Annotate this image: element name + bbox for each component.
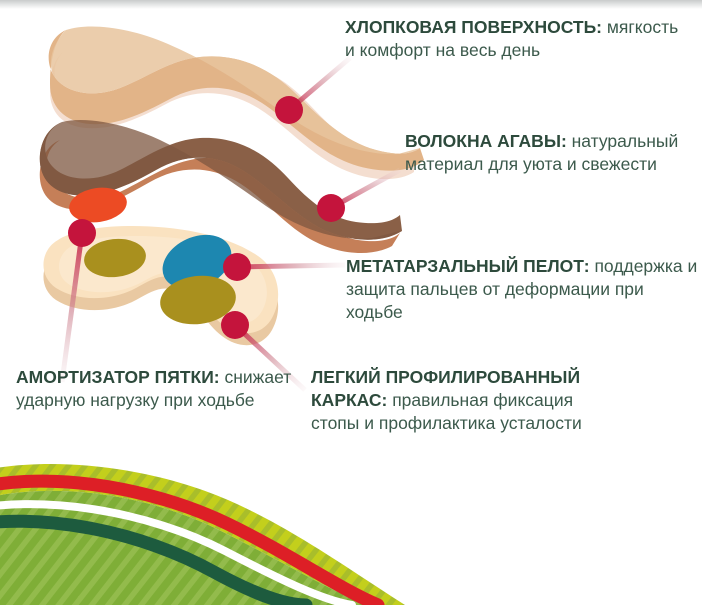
marker-dot-agave[interactable] — [317, 194, 345, 222]
callout-metatarsal-lead: МЕТАТАРЗАЛЬНЫЙ ПЕЛОТ: — [346, 256, 590, 276]
callout-heel-lead: АМОРТИЗАТОР ПЯТКИ: — [16, 367, 220, 387]
callout-light-profiled-frame: ЛЕГКИЙ ПРОФИЛИРОВАННЫЙ КАРКАС: правильна… — [311, 366, 611, 434]
callout-cotton-lead: ХЛОПКОВАЯ ПОВЕРХНОСТЬ: — [345, 17, 602, 37]
marker-dot-frame[interactable] — [221, 311, 249, 339]
marker-dot-cotton[interactable] — [275, 96, 303, 124]
infographic-canvas: ХЛОПКОВАЯ ПОВЕРХНОСТЬ: мягкость и комфор… — [0, 0, 702, 605]
callout-heel-shock-absorber: АМОРТИЗАТОР ПЯТКИ: снижает ударную нагру… — [16, 366, 306, 412]
callout-agave-fibers: ВОЛОКНА АГАВЫ: натуральный материал для … — [405, 130, 695, 176]
leader-line-metatarsal — [237, 265, 345, 267]
callout-cotton-surface: ХЛОПКОВАЯ ПОВЕРХНОСТЬ: мягкость и комфор… — [345, 16, 690, 62]
callout-agave-lead: ВОЛОКНА АГАВЫ: — [405, 131, 567, 151]
callout-metatarsal-pad: МЕТАТАРЗАЛЬНЫЙ ПЕЛОТ: поддержка и защита… — [346, 255, 698, 323]
marker-dot-heel[interactable] — [68, 219, 96, 247]
green-swoosh-decoration — [0, 430, 460, 605]
marker-dot-metatarsal[interactable] — [223, 253, 251, 281]
